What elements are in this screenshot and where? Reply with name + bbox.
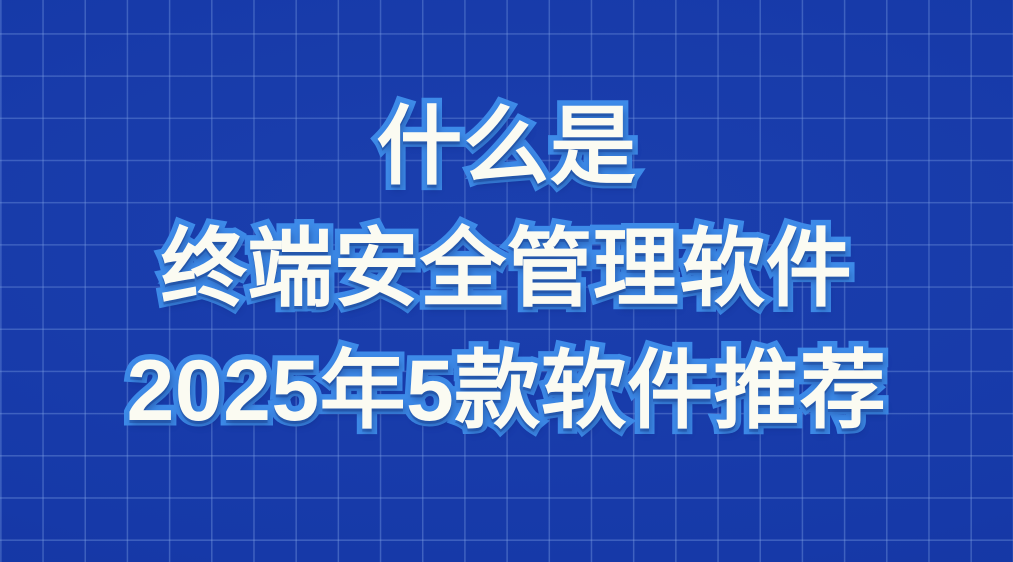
headline-line-3: 2025年5款软件推荐: [127, 348, 887, 434]
headline-line-1: 什么是: [376, 104, 637, 190]
headline-line-2: 终端安全管理软件: [161, 226, 852, 312]
poster-canvas: 什么是 终端安全管理软件 2025年5款软件推荐: [0, 0, 1013, 562]
headline-block: 什么是 终端安全管理软件 2025年5款软件推荐: [0, 104, 1013, 434]
